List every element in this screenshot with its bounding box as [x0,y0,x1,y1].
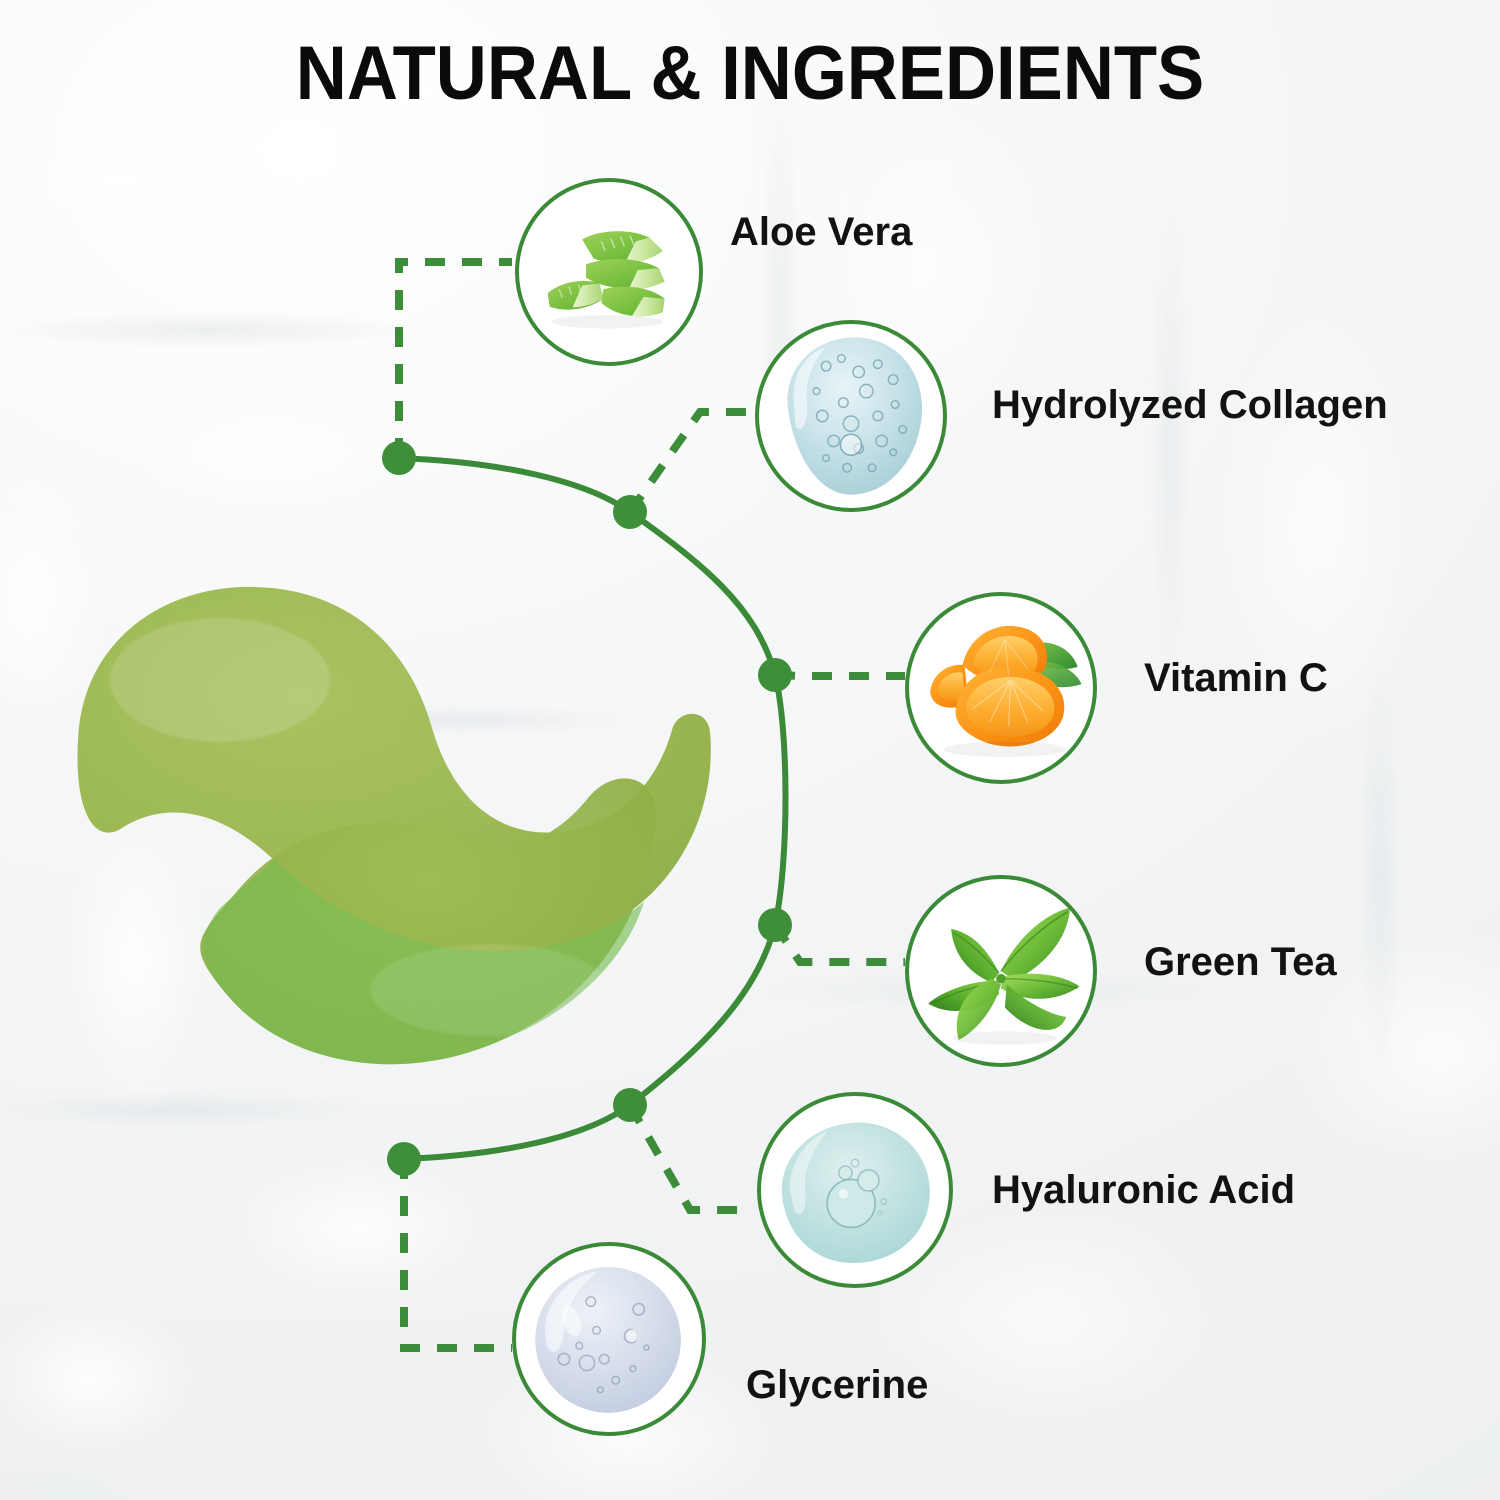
cyan-gel-drop-icon [761,1096,949,1284]
aloe-slices-icon [519,182,699,362]
branch-vitamin-c [775,675,905,676]
junction-dot-glycerine [387,1142,421,1176]
orange-slices-icon [909,596,1093,780]
ingredient-label-vitamin-c: Vitamin C [1144,658,1328,698]
junction-dot-collagen [613,495,647,529]
branch-hyaluronic-acid [630,1105,753,1210]
eye-patch-product-image [60,560,740,1100]
ingredient-label-green-tea: Green Tea [1144,942,1337,982]
tea-leaves-icon [909,879,1093,1063]
ingredient-circle-glycerine[interactable] [512,1242,706,1436]
ingredient-circle-hydrolyzed-collagen[interactable] [755,320,947,512]
ingredient-label-hydrolyzed-collagen: Hydrolyzed Collagen [992,385,1388,425]
blue-gel-bubbles-icon [759,324,943,508]
branch-aloe [399,262,512,458]
ingredient-circle-hyaluronic-acid[interactable] [757,1092,953,1288]
patch-highlight-2 [370,944,610,1036]
patch-highlight [110,618,330,742]
ingredient-label-aloe-vera: Aloe Vera [730,212,912,252]
eye-patches-svg [60,560,740,1100]
junction-dot-vitamin-c [758,658,792,692]
junction-dot-aloe [382,441,416,475]
clear-gel-drop-icon [516,1246,702,1432]
branch-hydrolyzed-collagen [630,412,757,512]
ingredient-circle-aloe-vera[interactable] [515,178,703,366]
ingredient-circle-green-tea[interactable] [905,875,1097,1067]
branch-green-tea [775,925,905,962]
infographic-canvas: NATURAL & INGREDIENTS .solid{fill:none;s… [0,0,1500,1500]
ingredient-label-glycerine: Glycerine [746,1365,928,1405]
ingredient-label-hyaluronic-acid: Hyaluronic Acid [992,1170,1295,1210]
branch-glycerine [404,1159,512,1348]
junction-dot-green-tea [758,908,792,942]
ingredient-circle-vitamin-c[interactable] [905,592,1097,784]
